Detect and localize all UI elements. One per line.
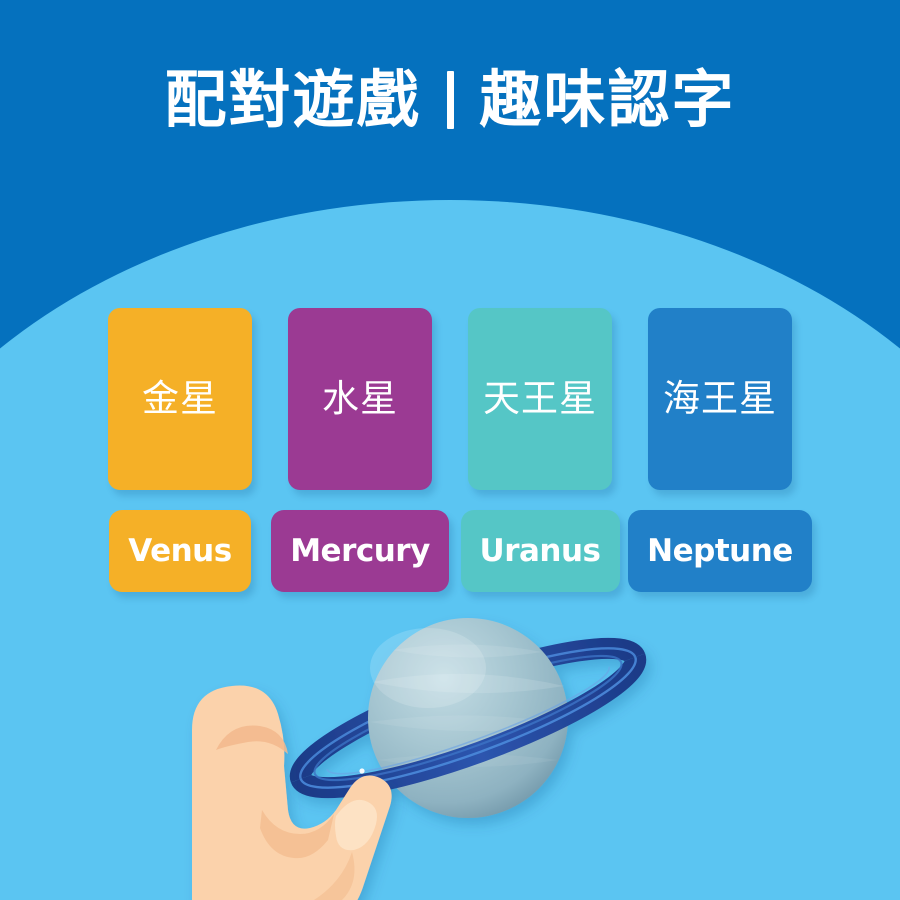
card-english-neptune[interactable]: Neptune (628, 510, 812, 592)
card-english-mercury[interactable]: Mercury (271, 510, 449, 592)
card-english-label: Uranus (480, 533, 601, 569)
card-chinese-label: 海王星 (663, 379, 777, 420)
title-divider-icon (447, 71, 454, 129)
card-english-label: Neptune (647, 533, 793, 569)
poster-canvas: 配對遊戲趣味認字 金星 Venus 水星 Mercury 天王星 (0, 0, 900, 900)
page-title: 配對遊戲趣味認字 (0, 0, 900, 200)
title-text-group: 配對遊戲趣味認字 (164, 69, 735, 131)
card-english-uranus[interactable]: Uranus (461, 510, 620, 592)
card-chinese-label: 水星 (322, 379, 398, 420)
card-chinese-neptune[interactable]: 海王星 (648, 308, 792, 490)
card-pair-neptune: 海王星 Neptune (648, 308, 792, 592)
title-right: 趣味認字 (480, 63, 736, 136)
card-english-venus[interactable]: Venus (109, 510, 250, 592)
card-english-label: Venus (128, 533, 231, 569)
card-pair-uranus: 天王星 Uranus (468, 308, 612, 592)
title-left: 配對遊戲 (164, 63, 420, 136)
card-chinese-venus[interactable]: 金星 (108, 308, 252, 490)
card-chinese-uranus[interactable]: 天王星 (468, 308, 612, 490)
card-pair-venus: 金星 Venus (108, 308, 252, 592)
card-chinese-label: 金星 (142, 379, 218, 420)
moon-speck-icon (359, 768, 364, 773)
matching-card-grid: 金星 Venus 水星 Mercury 天王星 Uranus 海王星 (0, 308, 900, 592)
planet-group (288, 618, 647, 818)
card-english-label: Mercury (290, 533, 430, 569)
card-chinese-label: 天王星 (483, 379, 597, 420)
card-pair-mercury: 水星 Mercury (288, 308, 432, 592)
hand-with-planet-illustration (0, 600, 900, 900)
card-chinese-mercury[interactable]: 水星 (288, 308, 432, 490)
